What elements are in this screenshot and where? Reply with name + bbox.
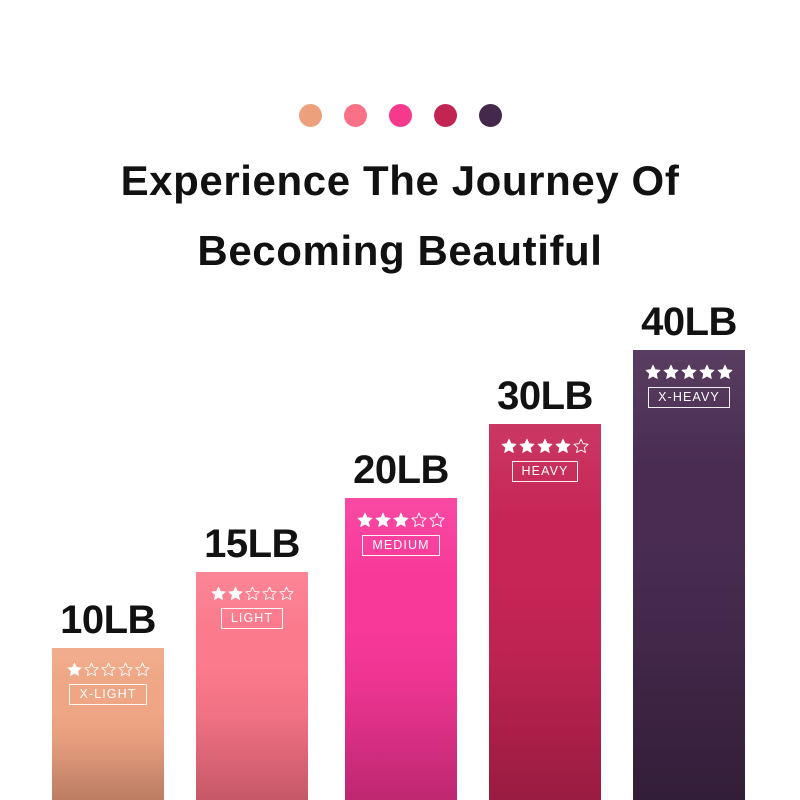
star-outline-icon (245, 586, 260, 601)
star-filled-icon (663, 364, 679, 380)
star-filled-icon (501, 438, 517, 454)
bar-column-10lb[interactable]: 10LBX-LIGHT (52, 648, 164, 800)
bar-gradient-sheen (633, 350, 745, 800)
page-title-line-1: Experience The Journey Of (0, 146, 800, 216)
star-rating (645, 364, 733, 380)
resistance-level-badge: X-LIGHT (69, 684, 146, 705)
star-outline-icon (135, 662, 150, 677)
bar-column-15lb[interactable]: 15LBLIGHT (196, 572, 308, 800)
star-outline-icon (118, 662, 133, 677)
bar-weight-label: 15LB (204, 522, 300, 566)
resistance-level-badge: X-HEAVY (648, 387, 730, 408)
bar-body: HEAVY (489, 424, 601, 800)
bar-body: X-HEAVY (633, 350, 745, 800)
star-rating (501, 438, 589, 454)
page-title-line-2: Becoming Beautiful (0, 216, 800, 286)
star-filled-icon (555, 438, 571, 454)
star-filled-icon (67, 662, 82, 677)
star-outline-icon (411, 512, 427, 528)
bar-weight-label: 20LB (353, 448, 449, 492)
star-filled-icon (375, 512, 391, 528)
bar-badge-group: HEAVY (489, 438, 601, 482)
star-filled-icon (717, 364, 733, 380)
star-filled-icon (228, 586, 243, 601)
star-outline-icon (84, 662, 99, 677)
bar-body: MEDIUM (345, 498, 457, 800)
star-filled-icon (393, 512, 409, 528)
bar-badge-group: X-HEAVY (633, 364, 745, 408)
star-rating (357, 512, 445, 528)
resistance-level-badge: MEDIUM (362, 535, 439, 556)
star-outline-icon (101, 662, 116, 677)
bar-badge-group: X-LIGHT (52, 662, 164, 705)
bar-column-40lb[interactable]: 40LBX-HEAVY (633, 350, 745, 800)
page-title: Experience The Journey Of Becoming Beaut… (0, 146, 800, 286)
star-filled-icon (645, 364, 661, 380)
resistance-level-badge: LIGHT (221, 608, 283, 629)
resistance-level-badge: HEAVY (512, 461, 579, 482)
star-rating (211, 586, 294, 601)
bar-column-30lb[interactable]: 30LBHEAVY (489, 424, 601, 800)
star-filled-icon (357, 512, 373, 528)
star-filled-icon (681, 364, 697, 380)
color-dot-5 (479, 104, 502, 127)
bar-weight-label: 10LB (60, 598, 156, 642)
color-dot-3 (389, 104, 412, 127)
color-dot-4 (434, 104, 457, 127)
star-outline-icon (573, 438, 589, 454)
color-dot-2 (344, 104, 367, 127)
star-outline-icon (279, 586, 294, 601)
star-filled-icon (519, 438, 535, 454)
bar-body: LIGHT (196, 572, 308, 800)
product-infographic: Experience The Journey Of Becoming Beaut… (0, 0, 800, 800)
star-filled-icon (699, 364, 715, 380)
star-filled-icon (537, 438, 553, 454)
color-dot-1 (299, 104, 322, 127)
bar-weight-label: 30LB (497, 374, 593, 418)
star-filled-icon (211, 586, 226, 601)
star-outline-icon (429, 512, 445, 528)
star-outline-icon (262, 586, 277, 601)
resistance-band-bar-chart: 10LBX-LIGHT15LBLIGHT20LBMEDIUM30LBHEAVY4… (0, 280, 800, 800)
bar-column-20lb[interactable]: 20LBMEDIUM (345, 498, 457, 800)
decorative-color-dots (0, 104, 800, 127)
bar-weight-label: 40LB (641, 300, 737, 344)
bar-badge-group: LIGHT (196, 586, 308, 629)
bar-body: X-LIGHT (52, 648, 164, 800)
star-rating (67, 662, 150, 677)
bar-badge-group: MEDIUM (345, 512, 457, 556)
